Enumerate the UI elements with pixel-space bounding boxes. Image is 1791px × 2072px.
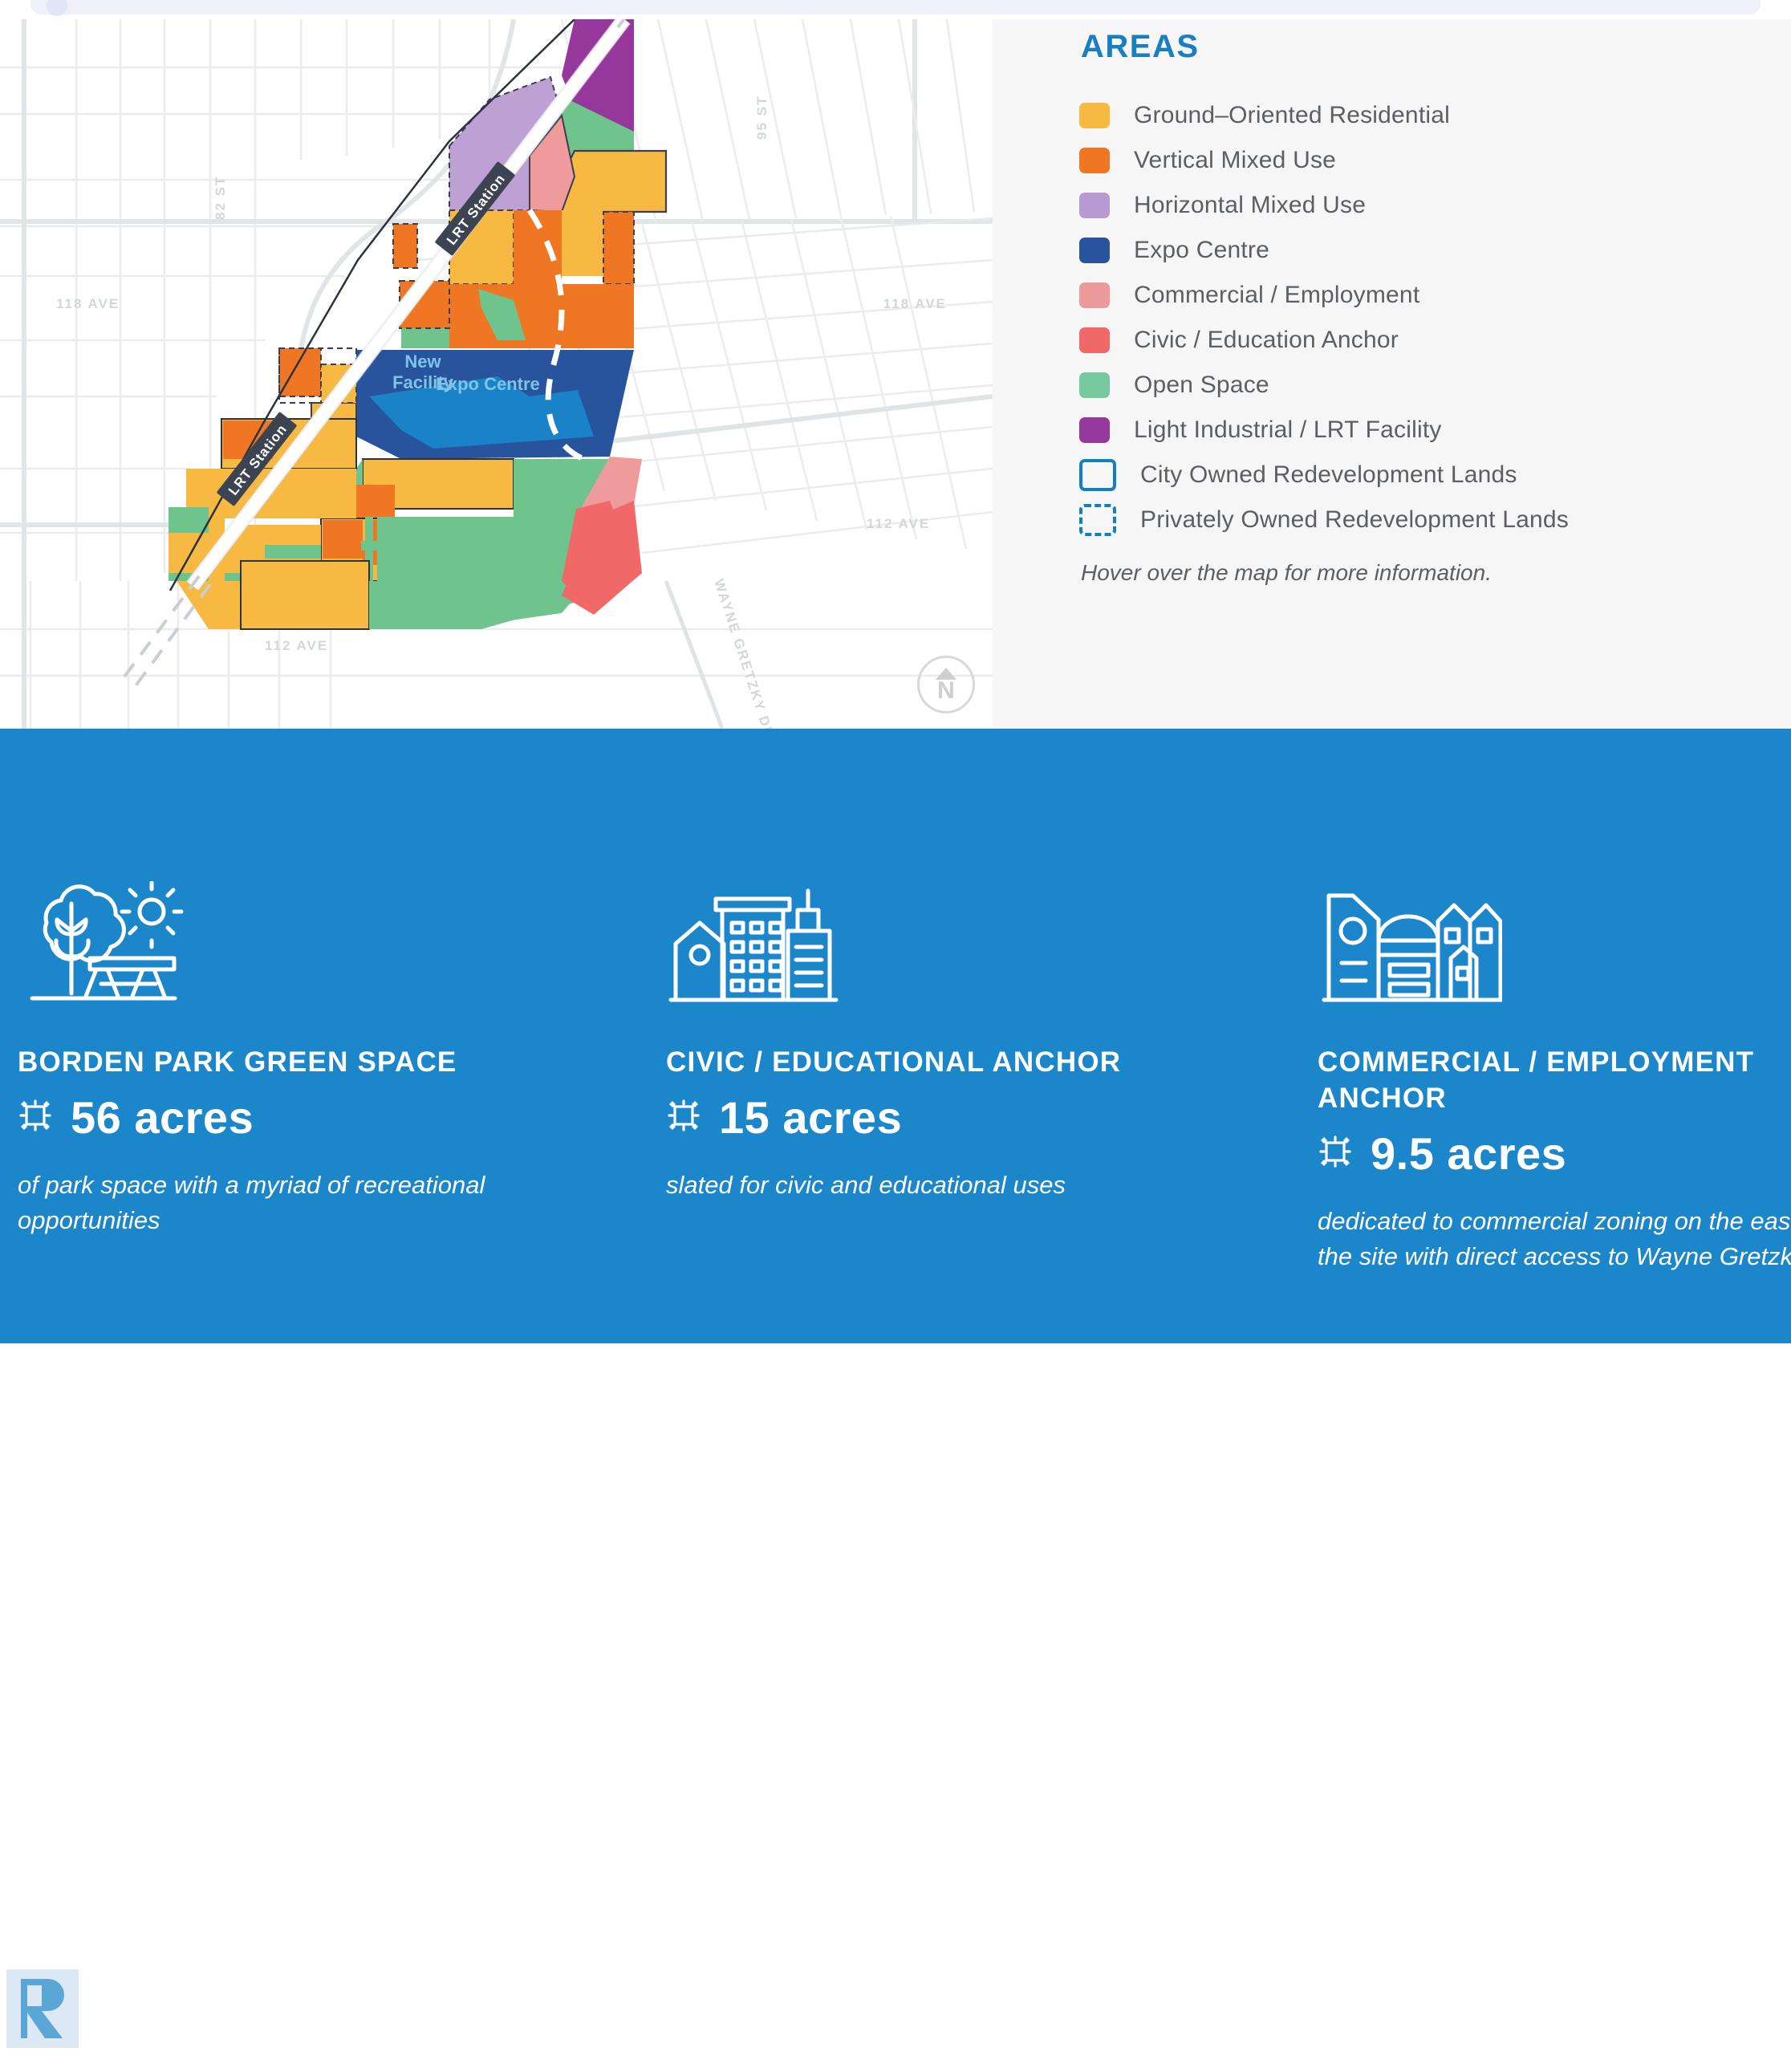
legend-title: AREAS (1081, 29, 1200, 65)
legend-item-commercial-employment[interactable]: Commercial / Employment (1079, 273, 1721, 318)
parcel-residential-ne (562, 151, 666, 212)
legend-item-label: Privately Owned Redevelopment Lands (1140, 506, 1569, 534)
stat-value: 15 acres (719, 1095, 902, 1140)
legend-item-open-space[interactable]: Open Space (1079, 363, 1721, 408)
map-label-expo-centre: Expo Centre (436, 374, 540, 394)
stat-value: 9.5 acres (1371, 1131, 1566, 1176)
stat-description: slated for civic and educational uses (666, 1168, 1228, 1203)
legend-item-city-owned-redevelopment-lands[interactable]: City Owned Redevelopment Lands (1079, 453, 1721, 498)
realtor-wordmark: REALTOR® (3, 2046, 117, 2070)
realtor-watermark: REALTOR® (3, 1969, 106, 2072)
street-label-118-ave-e: 118 AVE (883, 296, 947, 311)
legend-hover-hint: Hover over the map for more information. (1081, 560, 1492, 586)
compass-north-label: N (920, 679, 973, 703)
swatch-icon (1079, 282, 1110, 308)
stat-column-borden-park: BORDEN PARK GREEN SPACE 56 acres of park… (18, 881, 579, 1238)
street-label-112-ave-e: 112 AVE (867, 516, 930, 531)
page-root: LRT Station LRT Station New Facility Exp… (0, 0, 1791, 1343)
parcel-residential-mid-e (562, 210, 603, 276)
parcel-vertical-mixed-use-core (449, 284, 634, 348)
legend-item-label: Light Industrial / LRT Facility (1134, 416, 1442, 444)
parcel-residential-s6 (241, 561, 369, 629)
legend-item-ground-oriented-residential[interactable]: Ground–Oriented Residential (1079, 93, 1721, 138)
area-measure-icon (666, 1098, 701, 1137)
swatch-icon (1079, 327, 1110, 353)
park-tree-bench-icon (18, 881, 579, 1018)
street-label-82-st: 82 ST (213, 176, 228, 220)
street-label-95-st: 95 ST (754, 95, 770, 140)
legend-panel: AREAS Ground–Oriented Residential Vertic… (993, 19, 1791, 729)
legend-item-horizontal-mixed-use[interactable]: Horizontal Mixed Use (1079, 183, 1721, 228)
parcel-vmu-s1 (353, 485, 395, 521)
legend-item-label: Ground–Oriented Residential (1134, 102, 1450, 129)
legend-item-label: Horizontal Mixed Use (1134, 192, 1366, 219)
legend-item-vertical-mixed-use[interactable]: Vertical Mixed Use (1079, 138, 1721, 183)
street-label-118-ave-w: 118 AVE (56, 296, 120, 311)
legend-item-label: Civic / Education Anchor (1134, 327, 1399, 354)
legend-item-label: Expo Centre (1134, 237, 1269, 264)
outline-swatch-icon (1079, 459, 1116, 491)
stat-value-row: 56 acres (18, 1095, 579, 1140)
legend-item-label: City Owned Redevelopment Lands (1140, 461, 1517, 489)
stats-band: BORDEN PARK GREEN SPACE 56 acres of park… (0, 729, 1791, 1343)
legend-item-civic-education-anchor[interactable]: Civic / Education Anchor (1079, 318, 1721, 363)
stat-heading: BORDEN PARK GREEN SPACE (18, 1045, 579, 1081)
commercial-buildings-icon (1318, 881, 1791, 1018)
stat-value: 56 acres (71, 1095, 254, 1140)
top-panel-sliver (30, 0, 1761, 14)
parcel-vmu-dashed-e (603, 212, 634, 284)
swatch-icon (1079, 193, 1110, 218)
swatch-icon (1079, 417, 1110, 443)
stat-description: dedicated to commercial zoning on the ea… (1318, 1204, 1791, 1274)
legend-item-expo-centre[interactable]: Expo Centre (1079, 228, 1721, 273)
swatch-icon (1079, 103, 1110, 128)
realtor-logo-icon (6, 1969, 79, 2048)
street-label-112-ave-w: 112 AVE (265, 638, 328, 653)
north-compass-icon: N (917, 656, 975, 713)
area-measure-icon (18, 1098, 53, 1137)
stat-description: of park space with a myriad of recreatio… (18, 1168, 579, 1238)
top-panel-dot-icon (47, 0, 67, 16)
civic-buildings-icon (666, 881, 1228, 1018)
stat-column-commercial-employment: COMMERCIAL / EMPLOYMENT ANCHOR 9.5 acres… (1318, 881, 1791, 1274)
legend-item-privately-owned-redevelopment-lands[interactable]: Privately Owned Redevelopment Lands (1079, 498, 1721, 542)
map-label-new-facility: New (404, 351, 441, 372)
legend-item-list: Ground–Oriented Residential Vertical Mix… (1079, 93, 1721, 542)
dashed-swatch-icon (1079, 504, 1116, 536)
stat-value-row: 9.5 acres (1318, 1131, 1791, 1176)
map-svg[interactable]: LRT Station LRT Station New Facility Exp… (0, 19, 993, 729)
area-measure-icon (1318, 1134, 1353, 1173)
land-use-map[interactable]: LRT Station LRT Station New Facility Exp… (0, 19, 993, 729)
swatch-icon (1079, 238, 1110, 263)
legend-item-light-industrial-lrt-facility[interactable]: Light Industrial / LRT Facility (1079, 408, 1721, 453)
parcel-vmu-sw (279, 348, 321, 396)
swatch-icon (1079, 372, 1110, 398)
legend-item-label: Open Space (1134, 372, 1269, 399)
stat-heading: COMMERCIAL / EMPLOYMENT ANCHOR (1318, 1045, 1791, 1117)
stat-column-civic-educational: CIVIC / EDUCATIONAL ANCHOR 15 acres slat… (666, 881, 1228, 1203)
legend-item-label: Vertical Mixed Use (1134, 147, 1336, 174)
swatch-icon (1079, 148, 1110, 173)
legend-item-label: Commercial / Employment (1134, 282, 1419, 309)
parcel-vmu-s2 (323, 520, 363, 559)
stat-heading: CIVIC / EDUCATIONAL ANCHOR (666, 1045, 1228, 1081)
stat-value-row: 15 acres (666, 1095, 1228, 1140)
stats-columns: BORDEN PARK GREEN SPACE 56 acres of park… (0, 729, 1791, 1343)
parcel-vmu-dashed-nw (393, 224, 417, 268)
map-and-legend-row: LRT Station LRT Station New Facility Exp… (0, 19, 1791, 729)
